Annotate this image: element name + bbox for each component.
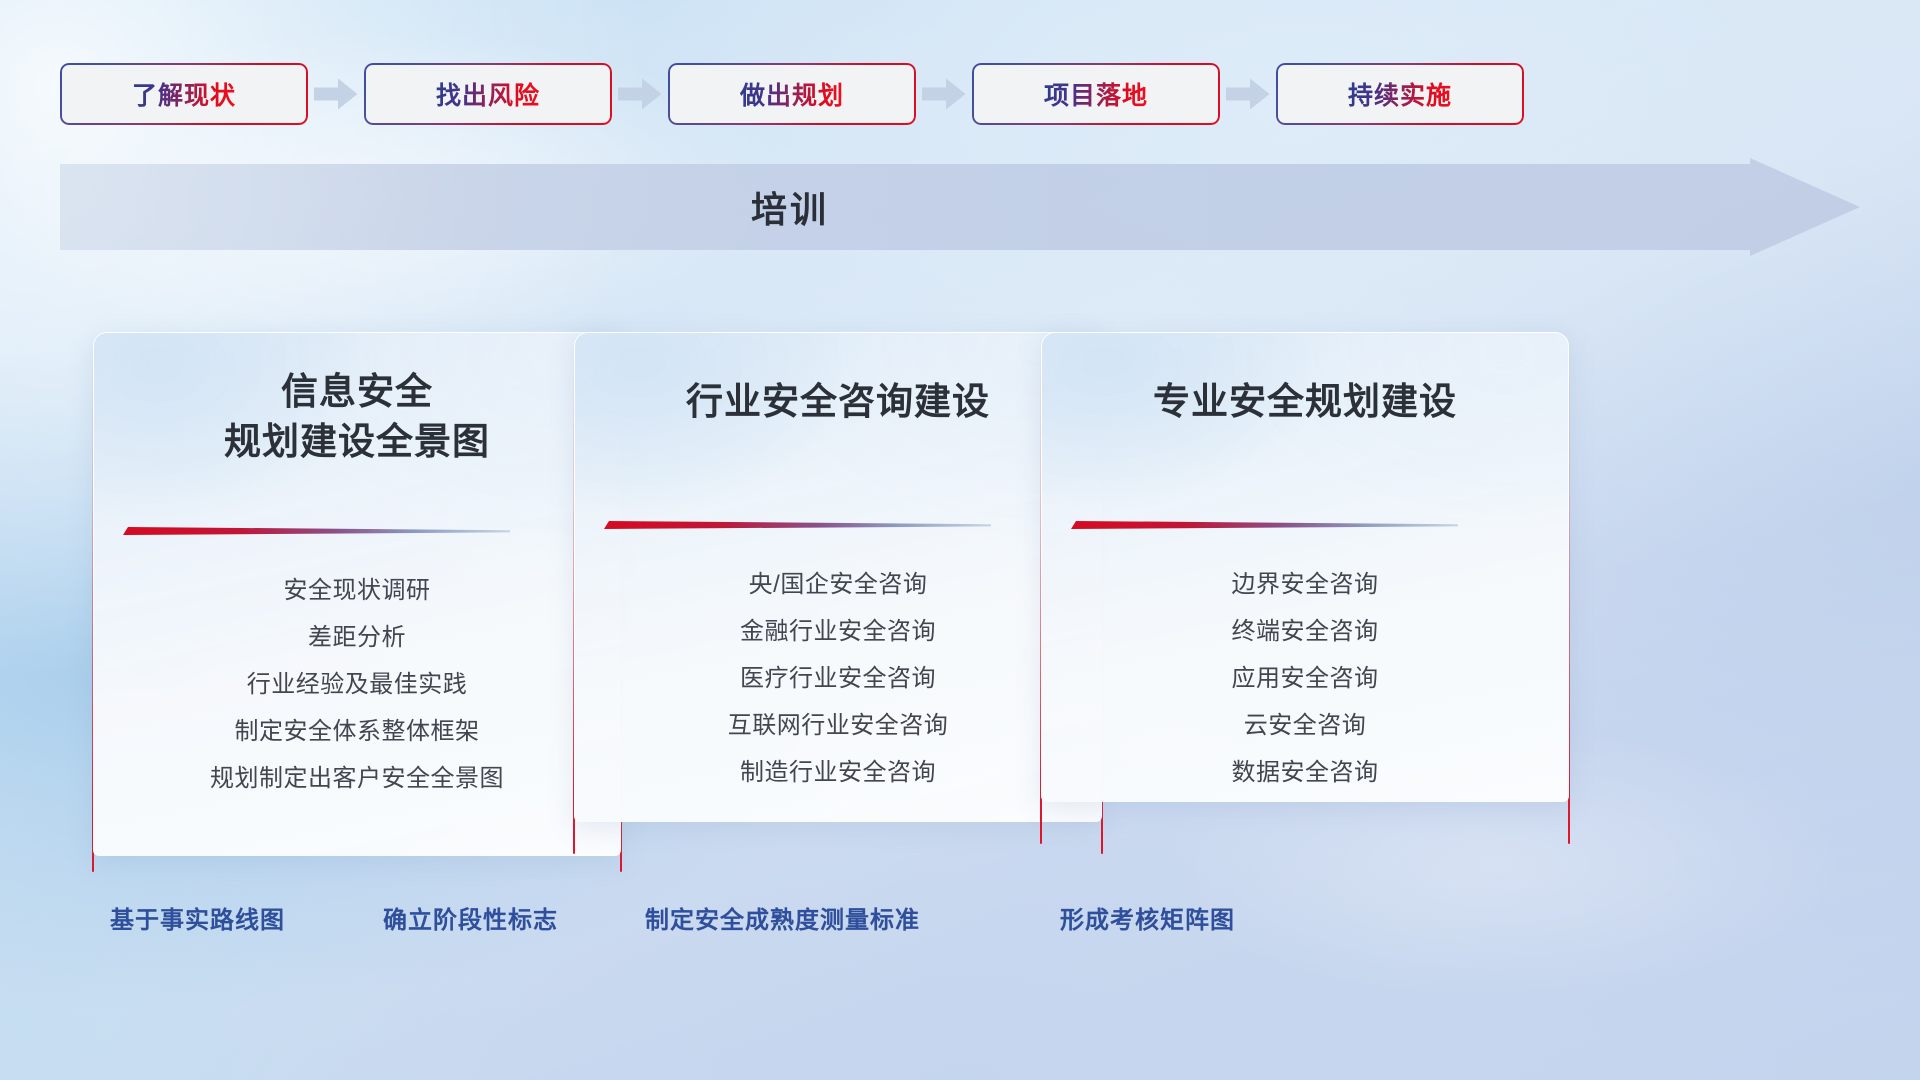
arrow-right-icon bbox=[916, 78, 972, 110]
card-title: 专业安全规划建设 bbox=[1153, 377, 1457, 427]
list-item: 边界安全咨询 bbox=[1232, 567, 1379, 603]
card-group: 信息安全 规划建设全景图 安全现状调研 bbox=[0, 332, 1920, 877]
list-item: 差距分析 bbox=[308, 620, 406, 656]
step-label-1: 了解现状 bbox=[132, 76, 236, 112]
list-item: 终端安全咨询 bbox=[1232, 614, 1379, 650]
card-divider-gradient bbox=[1068, 519, 1458, 531]
arrow-right-icon bbox=[612, 78, 668, 110]
list-item: 云安全咨询 bbox=[1244, 708, 1367, 744]
card-industry-security-consulting[interactable]: 行业安全咨询建设 央/国企安全咨询 bbox=[573, 332, 1103, 854]
card-divider-gradient bbox=[120, 525, 510, 537]
arrow-right-icon bbox=[308, 78, 364, 110]
caption-item: 制定安全成熟度测量标准 bbox=[645, 900, 920, 935]
caption-item: 形成考核矩阵图 bbox=[1060, 900, 1235, 935]
step-label-2: 找出风险 bbox=[436, 76, 540, 112]
list-item: 医疗行业安全咨询 bbox=[740, 661, 936, 697]
card-professional-security-planning[interactable]: 专业安全规划建设 边界安全咨询 bbox=[1040, 332, 1570, 844]
list-item: 制定安全体系整体框架 bbox=[235, 714, 480, 750]
step-label-5: 持续实施 bbox=[1348, 76, 1452, 112]
card-item-list: 边界安全咨询 终端安全咨询 应用安全咨询 云安全咨询 数据安全咨询 bbox=[1042, 567, 1568, 791]
list-item: 行业经验及最佳实践 bbox=[247, 667, 468, 703]
list-item: 互联网行业安全咨询 bbox=[728, 708, 949, 744]
process-step-flow: 了解现状 找出风险 做出规划 项目落地 持续实施 bbox=[60, 62, 1860, 126]
step-box-4[interactable]: 项目落地 bbox=[972, 63, 1220, 125]
caption-item: 确立阶段性标志 bbox=[383, 900, 558, 935]
step-box-3[interactable]: 做出规划 bbox=[668, 63, 916, 125]
caption-item: 基于事实路线图 bbox=[110, 900, 285, 935]
step-label-3: 做出规划 bbox=[740, 76, 844, 112]
training-banner: 培训 bbox=[60, 158, 1860, 256]
list-item: 制造行业安全咨询 bbox=[740, 755, 936, 791]
card-item-list: 安全现状调研 差距分析 行业经验及最佳实践 制定安全体系整体框架 规划制定出客户… bbox=[94, 573, 620, 797]
card-title: 行业安全咨询建设 bbox=[686, 377, 990, 427]
card-info-security-blueprint[interactable]: 信息安全 规划建设全景图 安全现状调研 bbox=[92, 332, 622, 872]
list-item: 金融行业安全咨询 bbox=[740, 614, 936, 650]
list-item: 规划制定出客户安全全景图 bbox=[210, 761, 504, 797]
step-label-4: 项目落地 bbox=[1044, 76, 1148, 112]
list-item: 数据安全咨询 bbox=[1232, 755, 1379, 791]
card-title: 信息安全 规划建设全景图 bbox=[224, 367, 490, 466]
caption-row: 基于事实路线图 确立阶段性标志 制定安全成熟度测量标准 形成考核矩阵图 bbox=[0, 900, 1920, 960]
step-box-2[interactable]: 找出风险 bbox=[364, 63, 612, 125]
step-box-1[interactable]: 了解现状 bbox=[60, 63, 308, 125]
list-item: 应用安全咨询 bbox=[1232, 661, 1379, 697]
list-item: 安全现状调研 bbox=[284, 573, 431, 609]
arrow-right-icon bbox=[1220, 78, 1276, 110]
card-item-list: 央/国企安全咨询 金融行业安全咨询 医疗行业安全咨询 互联网行业安全咨询 制造行… bbox=[575, 567, 1101, 791]
step-box-5[interactable]: 持续实施 bbox=[1276, 63, 1524, 125]
card-divider-gradient bbox=[601, 519, 991, 531]
training-label: 培训 bbox=[60, 158, 1520, 256]
list-item: 央/国企安全咨询 bbox=[749, 567, 928, 603]
